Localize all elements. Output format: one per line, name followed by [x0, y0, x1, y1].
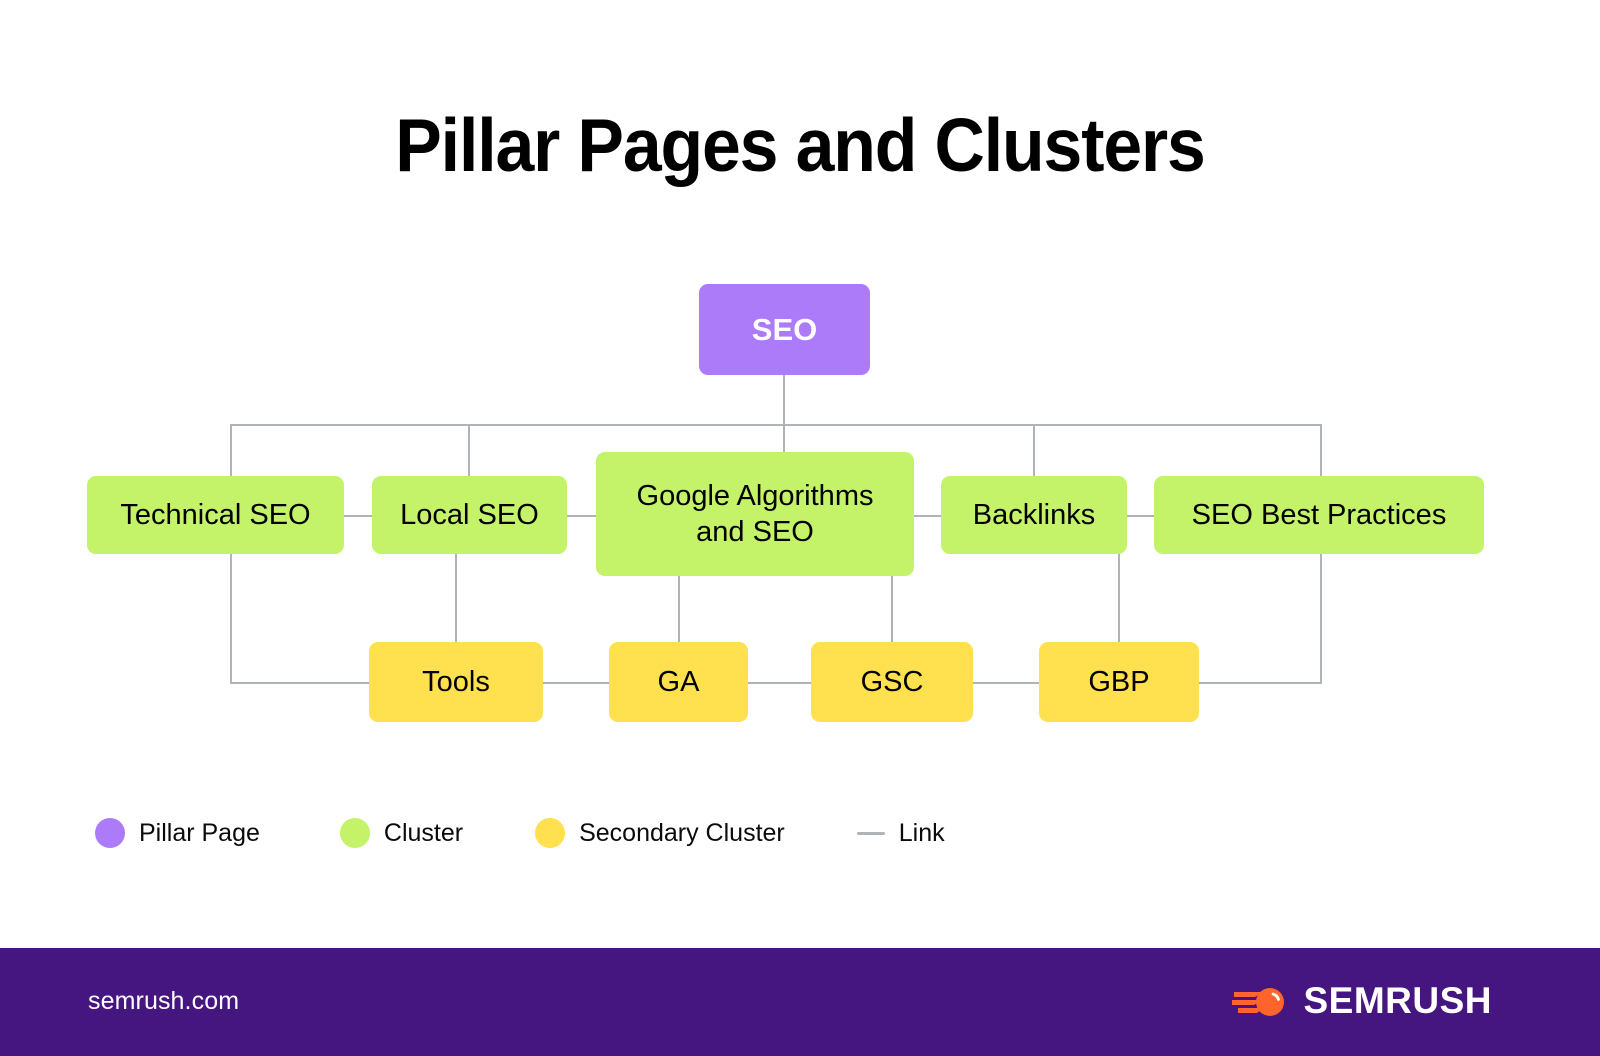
legend-swatch-cluster-dot [340, 818, 370, 848]
link-top-bus [230, 424, 1321, 426]
legend-swatch-secondary-dot [535, 818, 565, 848]
node-pillar-seo[interactable]: SEO [699, 284, 870, 375]
link-left-outer-leg [230, 552, 232, 684]
link-bus-to-local-seo [468, 424, 470, 482]
legend-item-link: Link [857, 812, 945, 854]
link-backlinks-to-best-practices [1126, 515, 1154, 517]
footer-bar: semrush.com SEMRUSH [0, 948, 1600, 1056]
legend: Pillar Page Cluster Secondary Cluster Li… [95, 812, 945, 854]
legend-swatch-pillar-dot [95, 818, 125, 848]
footer-url[interactable]: semrush.com [88, 985, 239, 1017]
legend-swatch-link-dash [857, 832, 885, 835]
legend-label-pillar-page: Pillar Page [139, 818, 260, 848]
legend-label-link: Link [899, 818, 945, 848]
node-secondary-tools[interactable]: Tools [369, 642, 543, 722]
link-pillar-to-bus [783, 375, 785, 455]
node-cluster-google-algorithms-and-seo[interactable]: Google Algorithms and SEO [596, 452, 914, 576]
page-title: Pillar Pages and Clusters [56, 100, 1544, 190]
node-cluster-backlinks[interactable]: Backlinks [941, 476, 1127, 554]
link-tools-to-ga [542, 682, 610, 684]
link-technical-to-local [344, 515, 373, 517]
legend-item-cluster: Cluster [340, 812, 463, 854]
link-local-seo-to-tools [455, 552, 457, 643]
legend-label-cluster: Cluster [384, 818, 463, 848]
link-google-algorithms-to-gsc [891, 575, 893, 643]
legend-item-secondary-cluster: Secondary Cluster [535, 812, 785, 854]
node-cluster-technical-seo[interactable]: Technical SEO [87, 476, 344, 554]
brand-wordmark: SEMRUSH [1303, 981, 1492, 1021]
node-label-line-2: and SEO [696, 514, 814, 550]
node-secondary-gbp[interactable]: GBP [1039, 642, 1199, 722]
link-bus-to-seo-best-practices [1320, 424, 1322, 482]
node-cluster-local-seo[interactable]: Local SEO [372, 476, 567, 554]
link-backlinks-to-gbp [1118, 552, 1120, 643]
node-cluster-seo-best-practices[interactable]: SEO Best Practices [1154, 476, 1484, 554]
link-local-to-google-algorithms [566, 515, 596, 517]
brand-logo: SEMRUSH [1232, 978, 1492, 1024]
node-secondary-ga[interactable]: GA [609, 642, 748, 722]
link-bus-to-backlinks [1033, 424, 1035, 482]
link-ga-to-gsc [747, 682, 811, 684]
link-google-algorithms-to-ga [678, 575, 680, 643]
link-right-outer-leg [1320, 552, 1322, 684]
legend-item-pillar-page: Pillar Page [95, 812, 260, 854]
node-label-line-1: Google Algorithms [637, 478, 874, 514]
link-bus-to-technical-seo [230, 424, 232, 482]
link-google-algorithms-to-backlinks [913, 515, 941, 517]
link-gsc-to-gbp [972, 682, 1040, 684]
infographic-canvas: Pillar Pages and Clusters SEO Technical … [0, 0, 1600, 1056]
node-secondary-gsc[interactable]: GSC [811, 642, 973, 722]
semrush-comet-icon [1232, 981, 1288, 1021]
legend-label-secondary-cluster: Secondary Cluster [579, 818, 785, 848]
